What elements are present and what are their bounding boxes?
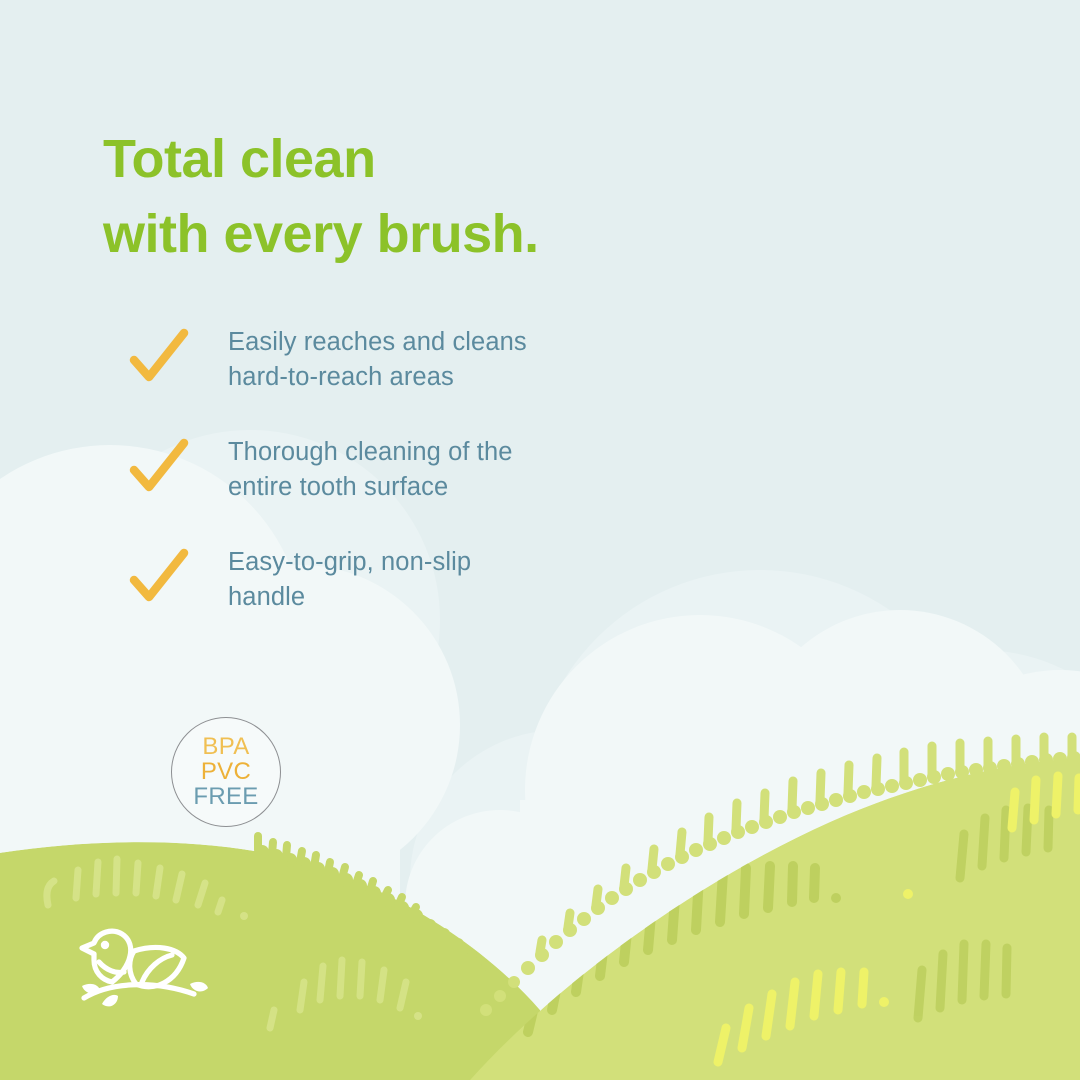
bird-on-branch-with-leaf-logo [72, 918, 212, 1014]
check-icon [128, 437, 190, 499]
check-icon [128, 547, 190, 609]
list-item-label: Easy-to-grip, non-slip handle [228, 545, 598, 614]
badge-line-pvc: PVC [201, 760, 251, 784]
badge-line-bpa: BPA [202, 735, 249, 759]
list-item-label: Thorough cleaning of the entire tooth su… [228, 435, 598, 504]
feature-benefit-list: Easily reaches and cleans hard-to-reach … [128, 325, 598, 617]
list-item: Easily reaches and cleans hard-to-reach … [128, 325, 598, 397]
page-title: Total clean with every brush. [103, 122, 539, 271]
badge-line-free: FREE [193, 785, 258, 809]
status-badge: BPA PVC FREE [171, 717, 281, 827]
list-item-label: Easily reaches and cleans hard-to-reach … [228, 325, 598, 394]
list-item: Easy-to-grip, non-slip handle [128, 545, 598, 617]
list-item: Thorough cleaning of the entire tooth su… [128, 435, 598, 507]
check-icon [128, 327, 190, 389]
poster-canvas: Total clean with every brush. Easily rea… [0, 0, 1080, 1080]
